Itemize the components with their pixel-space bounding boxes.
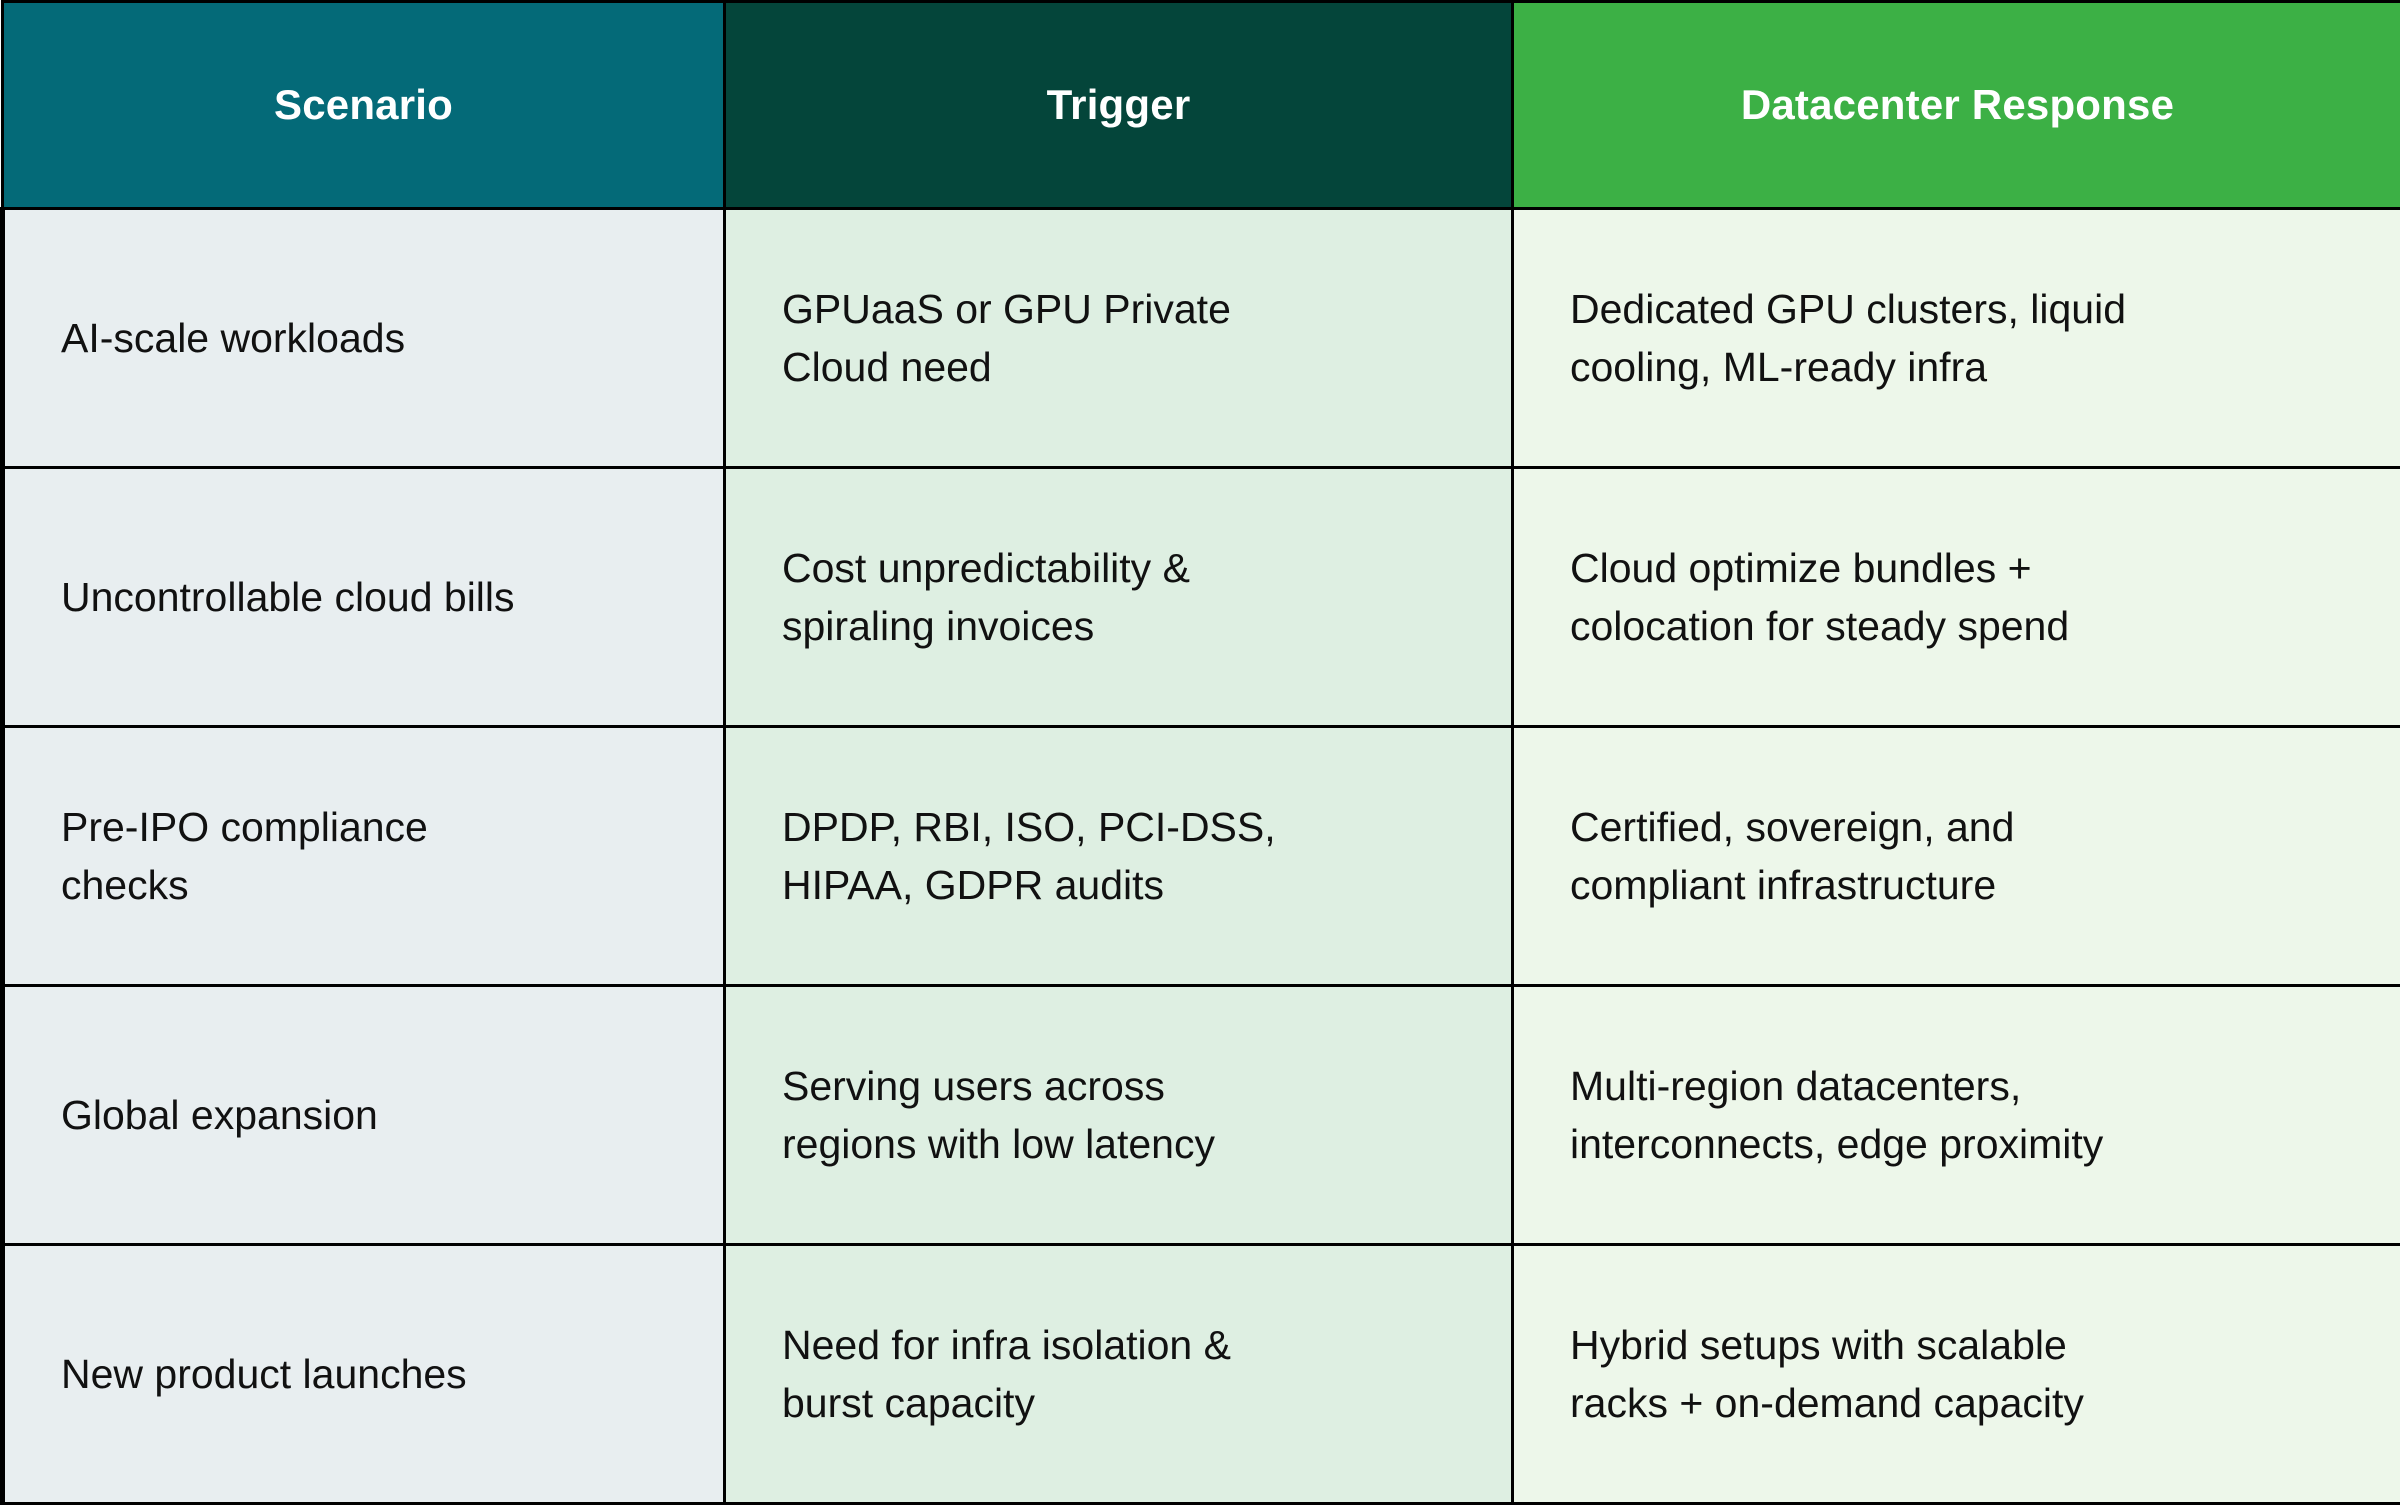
scenario-response-matrix: Scenario Trigger Datacenter Response AI-… — [0, 0, 2400, 1492]
cell-scenario: AI-scale workloads — [3, 209, 725, 468]
cell-scenario: New product launches — [3, 1245, 725, 1504]
cell-scenario-text: AI-scale workloads — [61, 309, 689, 367]
cell-trigger: DPDP, RBI, ISO, PCI-DSS, HIPAA, GDPR aud… — [725, 727, 1513, 986]
table-body: AI-scale workloads GPUaaS or GPU Private… — [3, 209, 2400, 1504]
table-row: AI-scale workloads GPUaaS or GPU Private… — [3, 209, 2400, 468]
cell-trigger: Cost unpredictability & spiraling invoic… — [725, 468, 1513, 727]
cell-trigger-text: Cost unpredictability & spiraling invoic… — [782, 539, 1477, 655]
cell-datacenter-response: Multi-region datacenters, interconnects,… — [1513, 986, 2400, 1245]
cell-response-text: Certified, sovereign, and compliant infr… — [1570, 798, 2366, 914]
cell-datacenter-response: Hybrid setups with scalable racks + on-d… — [1513, 1245, 2400, 1504]
cell-datacenter-response: Dedicated GPU clusters, liquid cooling, … — [1513, 209, 2400, 468]
cell-trigger-text: Need for infra isolation & burst capacit… — [782, 1316, 1477, 1432]
cell-trigger-text: DPDP, RBI, ISO, PCI-DSS, HIPAA, GDPR aud… — [782, 798, 1477, 914]
cell-scenario: Pre-IPO compliance checks — [3, 727, 725, 986]
cell-scenario-text: Global expansion — [61, 1086, 689, 1144]
column-header-scenario: Scenario — [3, 2, 725, 209]
cell-scenario: Uncontrollable cloud bills — [3, 468, 725, 727]
cell-response-text: Cloud optimize bundles + colocation for … — [1570, 539, 2366, 655]
cell-scenario-text: New product launches — [61, 1345, 689, 1403]
cell-scenario-text: Pre-IPO compliance checks — [61, 798, 689, 914]
cell-trigger-text: GPUaaS or GPU Private Cloud need — [782, 280, 1477, 396]
cell-trigger: Serving users across regions with low la… — [725, 986, 1513, 1245]
cell-scenario: Global expansion — [3, 986, 725, 1245]
cell-datacenter-response: Certified, sovereign, and compliant infr… — [1513, 727, 2400, 986]
cell-datacenter-response: Cloud optimize bundles + colocation for … — [1513, 468, 2400, 727]
table-header: Scenario Trigger Datacenter Response — [3, 2, 2400, 209]
table-row: Uncontrollable cloud bills Cost unpredic… — [3, 468, 2400, 727]
comparison-table: Scenario Trigger Datacenter Response AI-… — [0, 0, 2400, 1505]
cell-scenario-text: Uncontrollable cloud bills — [61, 568, 689, 626]
table-row: New product launches Need for infra isol… — [3, 1245, 2400, 1504]
cell-trigger-text: Serving users across regions with low la… — [782, 1057, 1477, 1173]
cell-response-text: Hybrid setups with scalable racks + on-d… — [1570, 1316, 2366, 1432]
cell-trigger: GPUaaS or GPU Private Cloud need — [725, 209, 1513, 468]
column-header-datacenter-response: Datacenter Response — [1513, 2, 2400, 209]
table-row: Pre-IPO compliance checks DPDP, RBI, ISO… — [3, 727, 2400, 986]
header-row: Scenario Trigger Datacenter Response — [3, 2, 2400, 209]
table-row: Global expansion Serving users across re… — [3, 986, 2400, 1245]
cell-trigger: Need for infra isolation & burst capacit… — [725, 1245, 1513, 1504]
cell-response-text: Dedicated GPU clusters, liquid cooling, … — [1570, 280, 2366, 396]
column-header-trigger: Trigger — [725, 2, 1513, 209]
cell-response-text: Multi-region datacenters, interconnects,… — [1570, 1057, 2366, 1173]
